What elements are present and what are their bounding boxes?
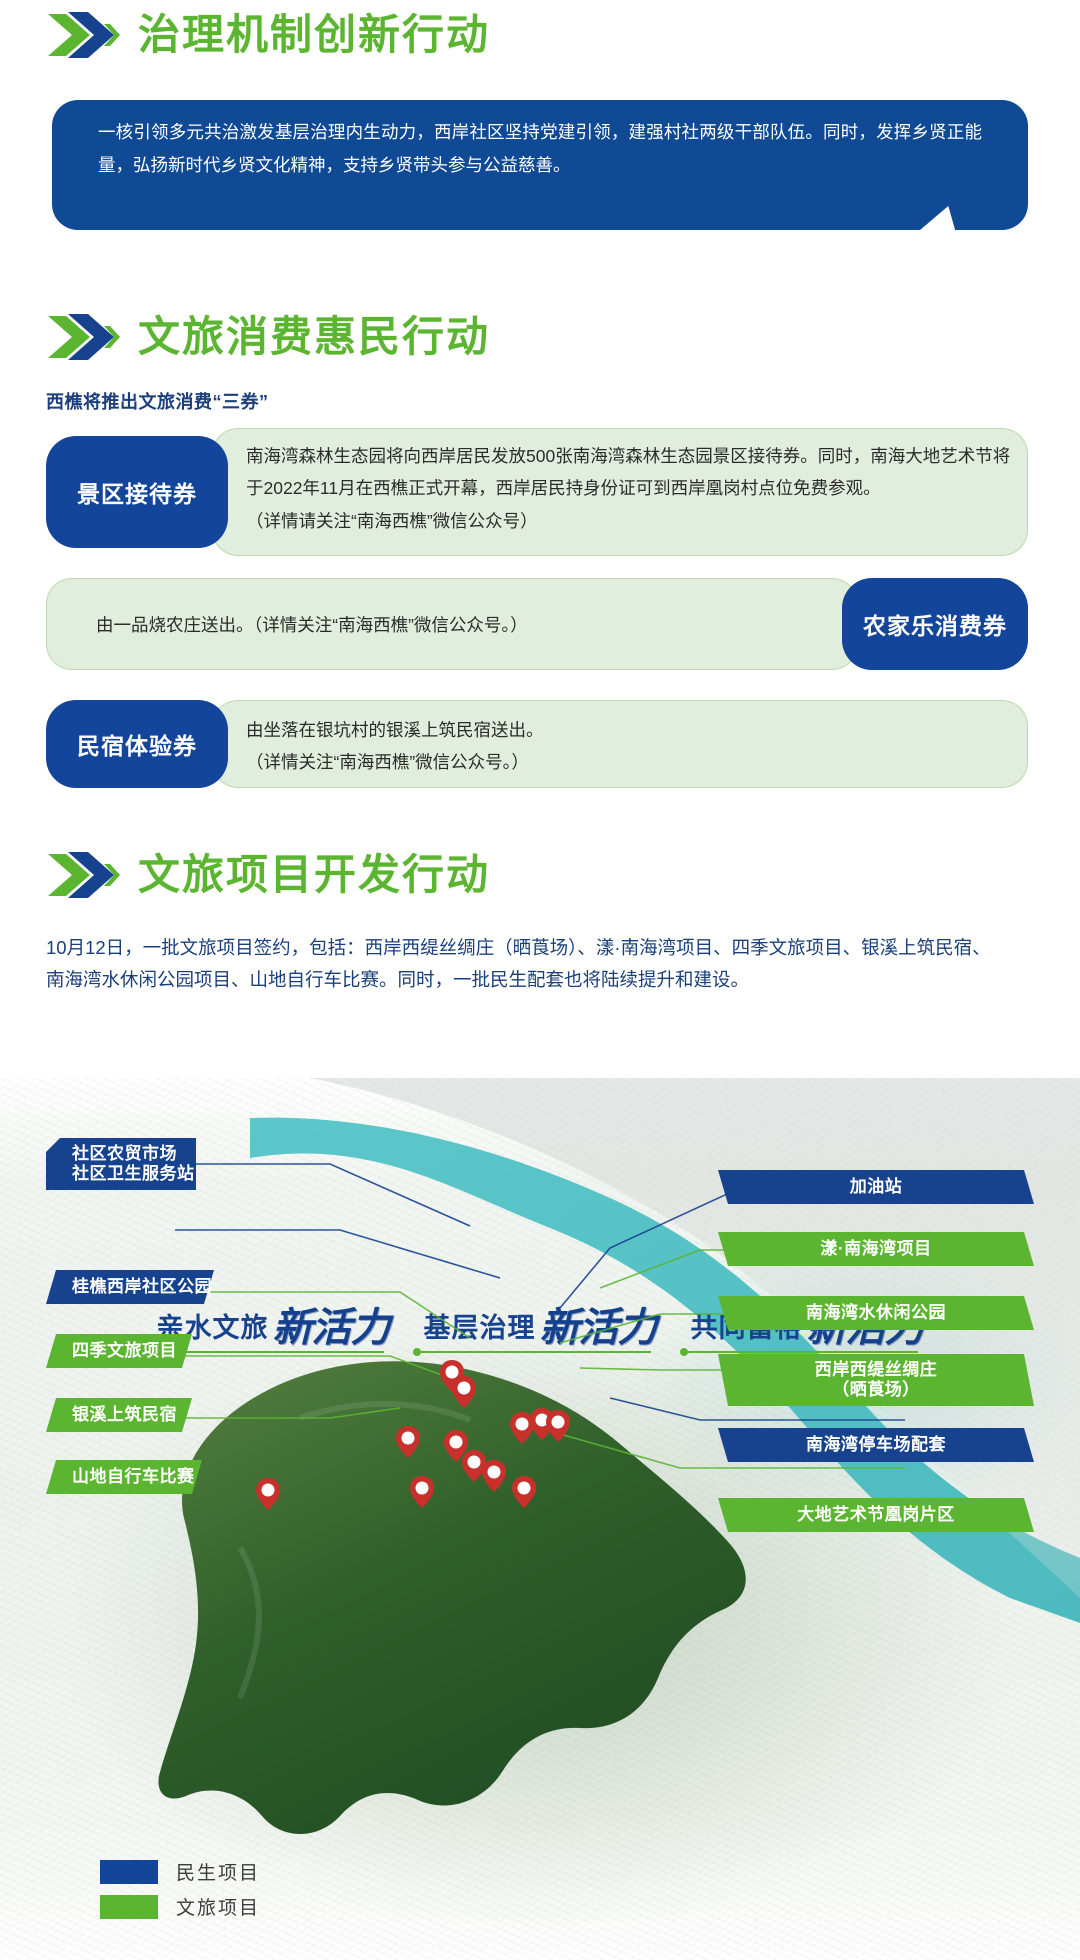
legend-swatch-icon [100, 1895, 158, 1919]
legend-row: 民生项目 [100, 1858, 260, 1885]
section-heading-projects: 文旅项目开发行动 [46, 848, 490, 902]
consumption-subtitle: 西樵将推出文旅消费“三券” [46, 388, 269, 414]
section-heading-consumption: 文旅消费惠民行动 [46, 310, 490, 364]
map-label-text: 银溪上筑民宿 [72, 1405, 177, 1425]
map-label-text: 社区农贸市场 社区卫生服务站 [72, 1144, 195, 1184]
governance-body-text: 一核引领多元共治激发基层治理内生动力，西岸社区坚持党建引领，建强村社两级干部队伍… [98, 116, 982, 183]
map-label-left-3[interactable]: 银溪上筑民宿 [46, 1398, 192, 1432]
projects-body-text: 10月12日，一批文旅项目签约，包括：西岸西缇丝绸庄（晒莨场）、漾·南海湾项目、… [46, 932, 1006, 997]
map-label-right-1[interactable]: 漾·南海湾项目 [718, 1232, 1034, 1266]
legend-swatch-icon [100, 1860, 158, 1884]
section-title: 文旅消费惠民行动 [138, 316, 490, 358]
map-label-text: 漾·南海湾项目 [820, 1239, 931, 1259]
map-label-right-4[interactable]: 南海湾停车场配套 [718, 1428, 1034, 1462]
map-label-text: 大地艺术节凰岗片区 [797, 1505, 955, 1525]
map-label-text: 南海湾水休闲公园 [806, 1303, 946, 1323]
coupon-row-farmhouse: 由一品烧农庄送出。（详情关注“南海西樵”微信公众号。） 农家乐消费券 [0, 578, 1080, 670]
double-chevron-icon [46, 310, 120, 364]
double-chevron-icon [46, 8, 120, 62]
map-label-left-4[interactable]: 山地自行车比赛 [46, 1460, 202, 1494]
legend-label: 民生项目 [176, 1858, 260, 1885]
project-map: 亲水文旅 新活力 基层治理 新活力 共同富裕 新活力 [0, 1078, 1080, 1960]
coupon-badge[interactable]: 民宿体验券 [46, 700, 228, 788]
legend-label: 文旅项目 [176, 1893, 260, 1920]
map-label-right-2[interactable]: 南海湾水休闲公园 [718, 1296, 1034, 1330]
map-label-text: 南海湾停车场配套 [806, 1435, 946, 1455]
map-legend: 民生项目 文旅项目 [100, 1858, 260, 1928]
coupon-body-text: 南海湾森林生态园将向西岸居民发放500张南海湾森林生态园景区接待券。同时，南海大… [246, 440, 1016, 537]
map-label-right-3[interactable]: 西岸西缇丝绸庄 （晒莨场） [718, 1354, 1034, 1406]
coupon-badge[interactable]: 景区接待券 [46, 436, 228, 548]
coupon-row-homestay: 由坐落在银坑村的银溪上筑民宿送出。 （详情关注“南海西樵”微信公众号。） 民宿体… [0, 700, 1080, 788]
coupon-body-text: 由一品烧农庄送出。（详情关注“南海西樵”微信公众号。） [96, 609, 796, 641]
section-title: 文旅项目开发行动 [138, 854, 490, 896]
map-label-left-1[interactable]: 桂樵西岸社区公园 [46, 1270, 214, 1304]
coupon-row-scenic: 南海湾森林生态园将向西岸居民发放500张南海湾森林生态园景区接待券。同时，南海大… [0, 428, 1080, 556]
map-label-left-2[interactable]: 四季文旅项目 [46, 1334, 192, 1368]
double-chevron-icon [46, 848, 120, 902]
map-label-right-0[interactable]: 加油站 [718, 1170, 1034, 1204]
legend-row: 文旅项目 [100, 1893, 260, 1920]
card-pointer-tail [918, 206, 961, 230]
map-label-text: 山地自行车比赛 [72, 1467, 195, 1487]
infographic-page: 治理机制创新行动 一核引领多元共治激发基层治理内生动力，西岸社区坚持党建引领，建… [0, 0, 1080, 1960]
coupon-body-text: 由坐落在银坑村的银溪上筑民宿送出。 （详情关注“南海西樵”微信公众号。） [246, 714, 986, 779]
coupon-badge[interactable]: 农家乐消费券 [842, 578, 1028, 670]
section-heading-governance: 治理机制创新行动 [46, 8, 490, 62]
governance-body-card: 一核引领多元共治激发基层治理内生动力，西岸社区坚持党建引领，建强村社两级干部队伍… [52, 100, 1028, 230]
map-label-left-0[interactable]: 社区农贸市场 社区卫生服务站 [46, 1138, 196, 1190]
section-title: 治理机制创新行动 [138, 14, 490, 56]
map-label-right-5[interactable]: 大地艺术节凰岗片区 [718, 1498, 1034, 1532]
map-label-text: 桂樵西岸社区公园 [72, 1277, 212, 1297]
map-label-text: 四季文旅项目 [72, 1341, 177, 1361]
map-label-text: 西岸西缇丝绸庄 （晒莨场） [815, 1360, 938, 1400]
map-label-text: 加油站 [850, 1177, 903, 1197]
